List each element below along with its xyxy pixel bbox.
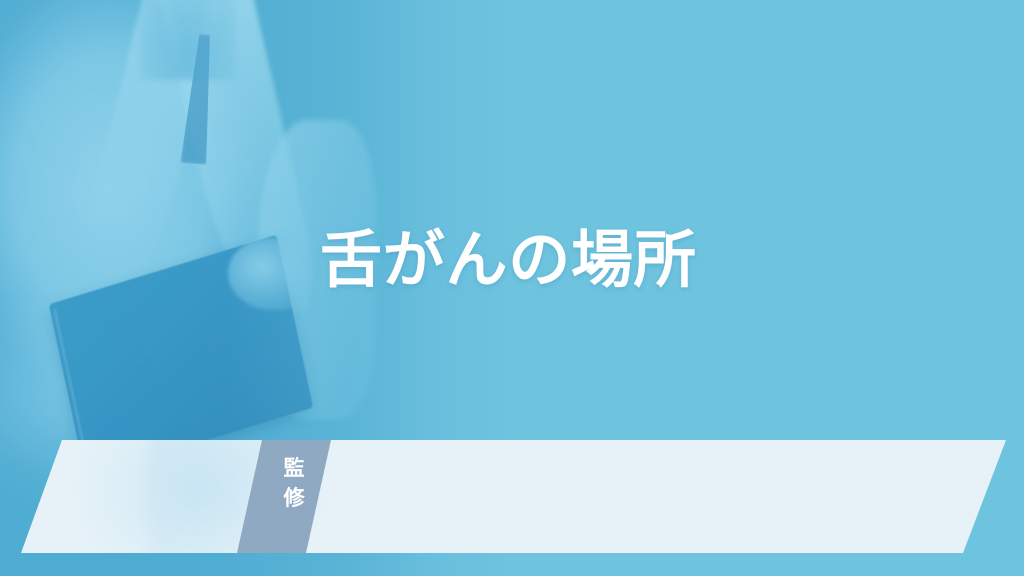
slide-title: 舌がんの場所 — [320, 228, 696, 295]
credit-bar-inner — [0, 440, 1024, 553]
credit-bar-photo-ghost-2 — [150, 440, 320, 553]
credit-bar: 監 修 Medical DOC メディカルドック 手塚 充樹 歯科医師 ヘルシー… — [0, 440, 1024, 553]
slide-root: 舌がんの場所 監 修 Medical DOC メディカルドック — [0, 0, 1024, 576]
